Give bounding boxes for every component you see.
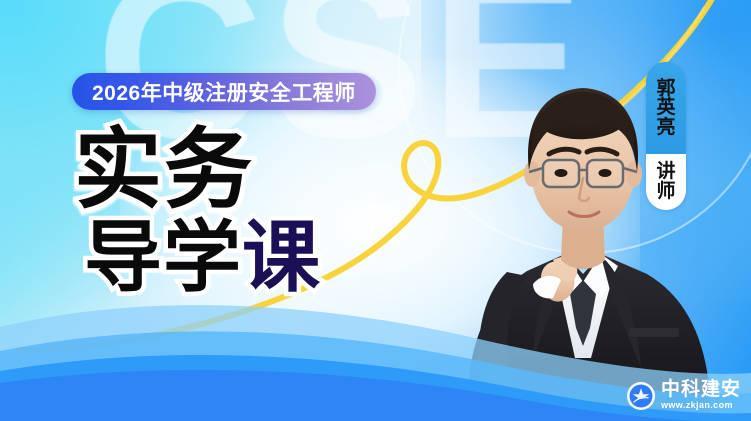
title-line-2-accent: 课 <box>242 213 321 301</box>
brand-logo-text: 中科建安 www.zkjan.com <box>661 380 741 411</box>
brand-logo: 中科建安 www.zkjan.com <box>627 380 741 411</box>
instructor-name-char-1: 英 <box>656 98 675 118</box>
page-title: 实务 导学课 <box>74 128 321 294</box>
course-poster: CSE <box>0 0 751 421</box>
instructor-title-char-1: 师 <box>656 182 675 202</box>
title-line-2-black: 导学 <box>84 213 242 301</box>
brand-name: 中科建安 <box>661 380 741 400</box>
instructor-name-char-0: 郭 <box>656 79 675 99</box>
instructor-title-char-0: 讲 <box>656 162 675 182</box>
badge-label: 2026年中级注册安全工程师 <box>92 77 356 107</box>
instructor-name-section: 郭 英 亮 <box>646 62 686 154</box>
title-line-1: 实务 <box>74 128 321 212</box>
brand-url: www.zkjan.com <box>661 401 741 411</box>
title-line-2: 导学课 <box>84 220 321 294</box>
instructor-name-badge: 郭 英 亮 讲 师 <box>646 62 686 210</box>
zkjan-star-icon <box>627 382 655 410</box>
instructor-title-section: 讲 师 <box>646 154 686 210</box>
course-category-badge: 2026年中级注册安全工程师 <box>72 73 376 110</box>
instructor-name-char-2: 亮 <box>656 118 675 138</box>
